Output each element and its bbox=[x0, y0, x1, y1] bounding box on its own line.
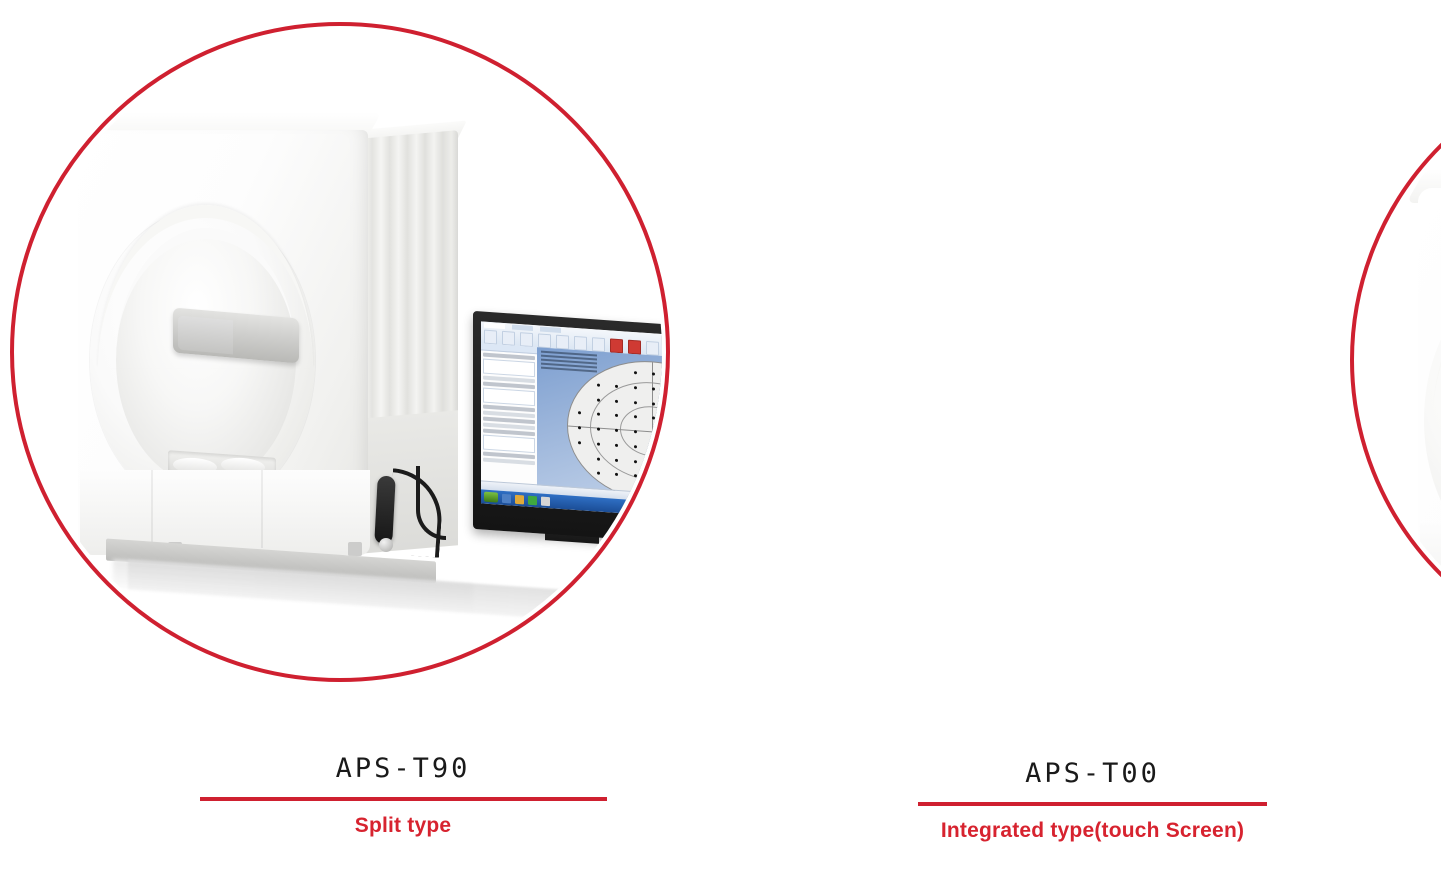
perimetry-test-point bbox=[615, 458, 618, 461]
perimetry-test-point bbox=[634, 430, 637, 433]
perimetry-test-point bbox=[578, 411, 581, 414]
taskbar-icon[interactable] bbox=[502, 493, 511, 503]
taskbar-icon[interactable] bbox=[528, 495, 537, 505]
caption-aps-t00: APS-T00 Integrated type(touch Screen) bbox=[825, 760, 1360, 843]
toolbar-stop-icon[interactable] bbox=[610, 338, 623, 353]
projector-head-face bbox=[178, 316, 233, 355]
visual-field-canvas[interactable] bbox=[537, 347, 662, 506]
perimetry-test-point bbox=[597, 457, 600, 460]
perimetry-test-point bbox=[615, 444, 618, 447]
software-parameter-panel[interactable] bbox=[481, 343, 538, 497]
product-subtitle-label: Integrated type(touch Screen) bbox=[825, 819, 1360, 843]
monitor-screen[interactable] bbox=[481, 321, 662, 516]
perimetry-test-point bbox=[652, 387, 655, 390]
caption-divider bbox=[918, 802, 1267, 806]
toolbar-exit-icon[interactable] bbox=[628, 340, 641, 355]
perimetry-test-point bbox=[652, 402, 655, 405]
perimetry-test-point bbox=[652, 372, 655, 375]
perimetry-test-point bbox=[597, 383, 600, 386]
perimetry-test-point bbox=[597, 472, 600, 475]
toolbar-print-icon[interactable] bbox=[574, 336, 587, 351]
perimetry-test-point bbox=[597, 427, 600, 430]
perimetry-grid-plot bbox=[567, 355, 662, 507]
product-photo-aps-t00 bbox=[1358, 63, 1441, 657]
product-subtitle-label: Split type bbox=[103, 814, 703, 838]
toolbar-test-icon[interactable] bbox=[556, 335, 569, 350]
caption-aps-t90: APS-T90 Split type bbox=[103, 755, 703, 838]
patient-response-button[interactable] bbox=[374, 476, 396, 545]
taskbar-icon[interactable] bbox=[541, 496, 550, 506]
parameter-input[interactable] bbox=[483, 359, 535, 378]
perimetry-test-point bbox=[615, 473, 618, 476]
product-photo-aps-t90: PHILIPS bbox=[18, 30, 662, 674]
perimetry-test-point bbox=[597, 413, 600, 416]
device-foot-right bbox=[348, 542, 362, 556]
response-button-connector bbox=[379, 538, 393, 552]
toolbar-help-icon[interactable] bbox=[646, 341, 659, 356]
panel-seam-left bbox=[151, 470, 153, 548]
perimetry-test-point bbox=[652, 461, 655, 464]
caption-divider bbox=[200, 797, 607, 801]
product-model-label: APS-T00 bbox=[825, 760, 1360, 788]
panel-seam-right bbox=[261, 470, 263, 548]
product-card-aps-t90[interactable]: PHILIPS bbox=[0, 0, 700, 720]
toolbar-settings-icon[interactable] bbox=[592, 337, 605, 352]
perimetry-test-point bbox=[634, 445, 637, 448]
perimetry-test-point bbox=[578, 441, 581, 444]
product-card-aps-t00[interactable] bbox=[740, 0, 1440, 720]
perimetry-test-point bbox=[634, 474, 637, 477]
perimetry-test-point bbox=[634, 415, 637, 418]
perimetry-test-point bbox=[615, 429, 618, 432]
perimetry-test-point bbox=[652, 431, 655, 434]
start-button[interactable] bbox=[484, 492, 498, 503]
toolbar-new-icon[interactable] bbox=[484, 330, 497, 345]
perimetry-test-point bbox=[615, 385, 618, 388]
parameter-input[interactable] bbox=[483, 388, 535, 407]
toolbar-patient-icon[interactable] bbox=[538, 333, 551, 348]
perimetry-test-point bbox=[634, 460, 637, 463]
perimetry-test-point bbox=[634, 386, 637, 389]
parameter-input[interactable] bbox=[483, 435, 535, 454]
perimetry-test-point bbox=[615, 399, 618, 402]
base-rail bbox=[1420, 615, 1441, 657]
patient-info-note bbox=[541, 351, 597, 375]
perimetry-test-point bbox=[578, 426, 581, 429]
perimetry-test-point bbox=[634, 371, 637, 374]
product-comparison-stage: PHILIPS APS-T90 Split type bbox=[0, 0, 1441, 877]
taskbar-icon[interactable] bbox=[515, 494, 524, 504]
product-model-label: APS-T90 bbox=[103, 755, 703, 783]
perimetry-test-point bbox=[597, 398, 600, 401]
perimetry-test-point bbox=[652, 446, 655, 449]
external-lcd-monitor[interactable]: PHILIPS bbox=[473, 318, 662, 548]
toolbar-open-icon[interactable] bbox=[502, 331, 515, 346]
perimetry-test-point bbox=[634, 401, 637, 404]
toolbar-save-icon[interactable] bbox=[520, 332, 533, 347]
perimetry-test-point bbox=[597, 442, 600, 445]
